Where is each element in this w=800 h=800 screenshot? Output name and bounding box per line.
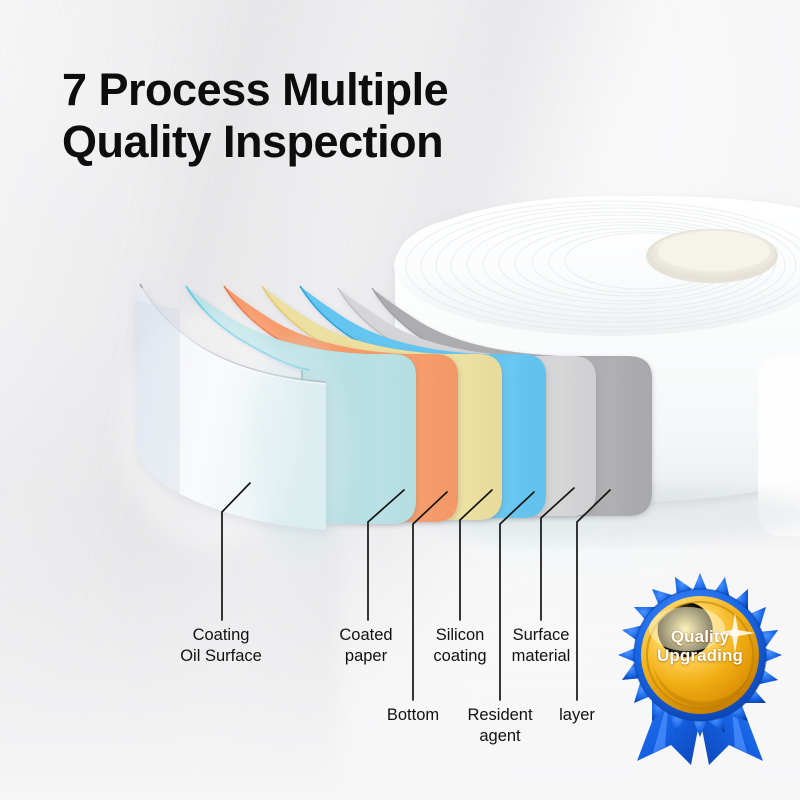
infographic-canvas: 7 Process Multiple Quality Inspection	[0, 0, 800, 800]
callout-surface-material: Surface material	[512, 625, 571, 667]
callout-resident-agent: Resident agent	[467, 705, 532, 747]
callout-bottom: Bottom	[387, 705, 439, 726]
badge-label: Quality Upgrading	[609, 627, 791, 666]
roll-core-hole	[646, 229, 778, 283]
callout-coating-oil-surface: Coating Oil Surface	[180, 625, 262, 667]
callout-layer: layer	[559, 705, 595, 726]
callout-coated-paper: Coated paper	[339, 625, 392, 667]
callout-silicon-coating: Silicon coating	[433, 625, 486, 667]
quality-upgrading-badge: Quality Upgrading	[609, 569, 791, 765]
